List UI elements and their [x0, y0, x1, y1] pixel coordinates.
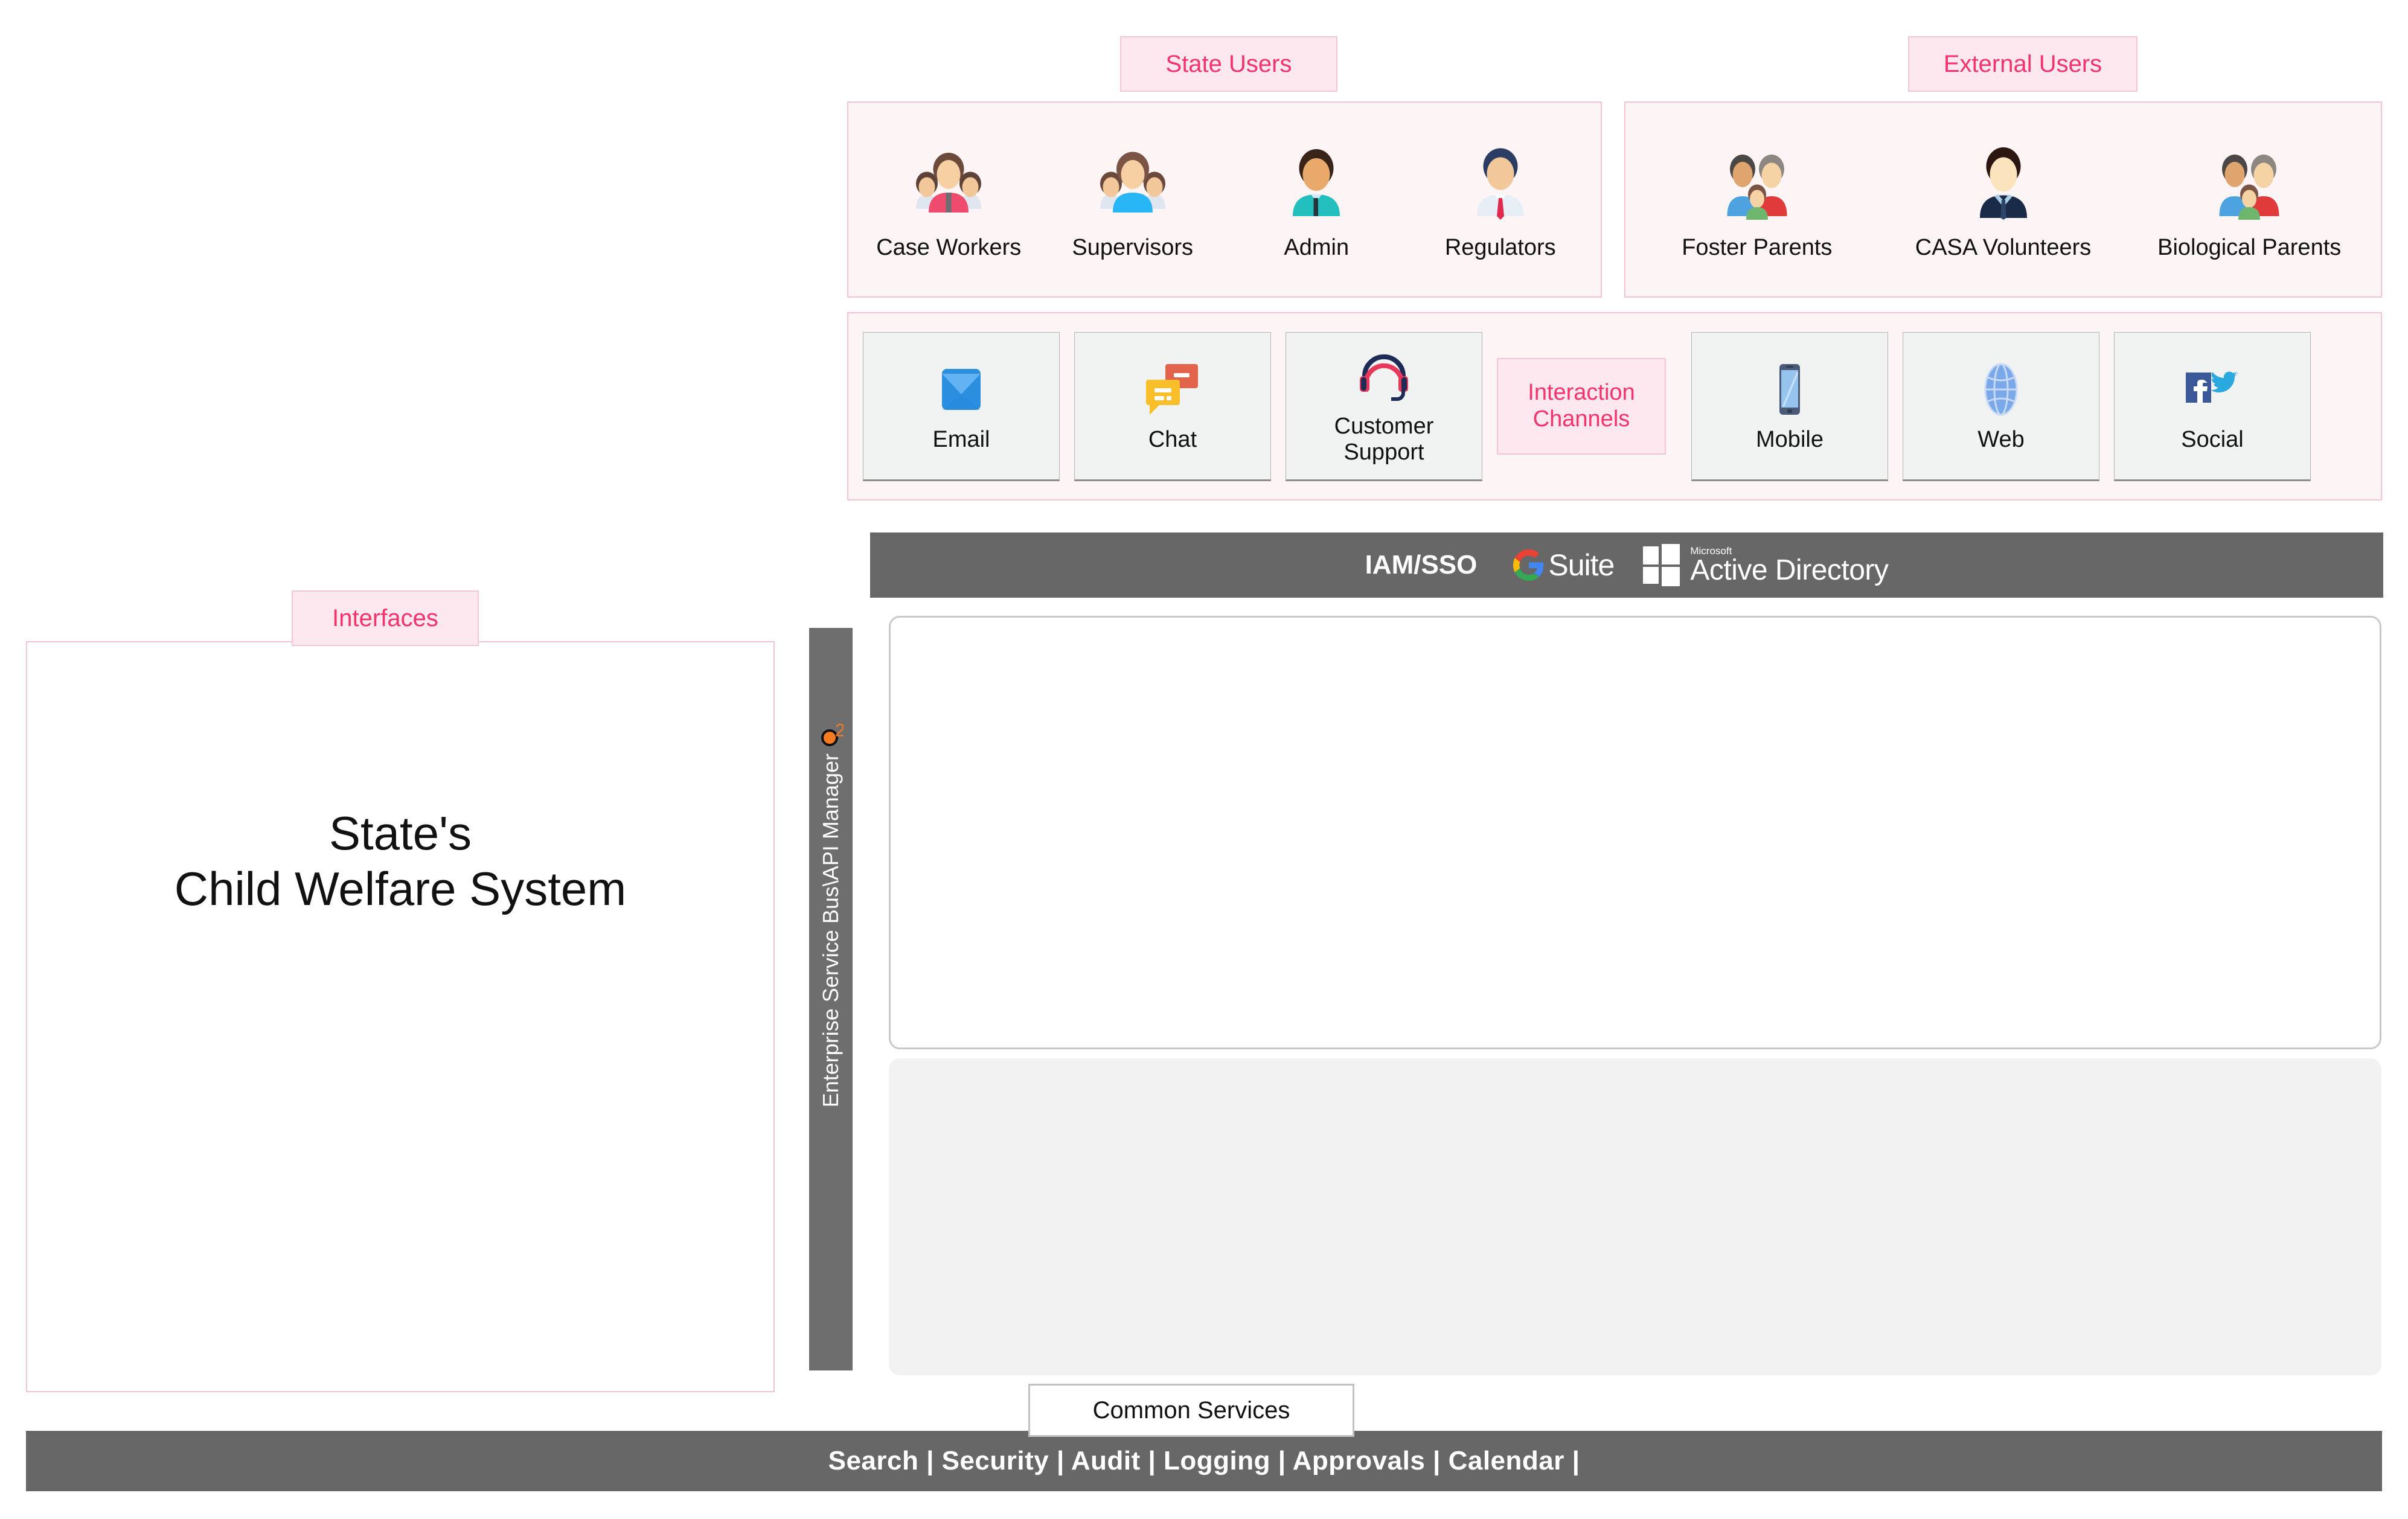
channel-label: Social: [2181, 427, 2244, 453]
wso2-logo-icon: WS 2: [818, 645, 844, 747]
user-item-case-workers[interactable]: Case Workers: [857, 138, 1041, 261]
channel-card-chat[interactable]: Chat: [1074, 332, 1271, 481]
interaction-channels-panel: Email Chat Customer Support Int: [847, 312, 2382, 500]
family-avatar-icon: [1712, 138, 1802, 229]
user-label: Regulators: [1445, 235, 1556, 261]
person-avatar-icon: [1958, 138, 2049, 229]
svg-text:2: 2: [835, 721, 844, 741]
state-title-line2: Child Welfare System: [27, 861, 773, 916]
user-label: CASA Volunteers: [1915, 235, 2092, 261]
social-media-icon: [2173, 359, 2252, 420]
channel-card-email[interactable]: Email: [863, 332, 1060, 481]
channel-card-customer-support[interactable]: Customer Support: [1286, 332, 1482, 481]
interaction-channels-line1: Interaction: [1528, 380, 1635, 406]
group-avatar-icon: [1087, 138, 1178, 229]
channel-label: Mobile: [1756, 427, 1824, 453]
interfaces-tab-text: Interfaces: [332, 604, 438, 632]
state-users-panel: Case Workers Supervisors Admin: [847, 101, 1602, 298]
enterprise-service-bus-bar: WS 2 Enterprise Service Bus\API Manager: [809, 628, 853, 1370]
group-avatar-icon: [903, 138, 994, 229]
external-users-panel: Foster Parents CASA Volunteers Biologica…: [1624, 101, 2382, 298]
state-child-welfare-system-box: State's Child Welfare System: [26, 641, 775, 1392]
common-services-bar: Search | Security | Audit | Logging | Ap…: [26, 1431, 2382, 1491]
state-title-line1: State's: [27, 805, 773, 861]
person-avatar-icon: [1455, 138, 1546, 229]
user-item-foster-parents[interactable]: Foster Parents: [1634, 138, 1880, 261]
iam-sso-bar: IAM/SSO Suite Microsoft Active Directory: [870, 532, 2383, 598]
family-avatar-icon: [2204, 138, 2294, 229]
common-services-label: Common Services: [1093, 1397, 1290, 1424]
channel-label: Web: [1977, 427, 2024, 453]
channel-card-web[interactable]: Web: [1903, 332, 2099, 481]
gsuite-label: Suite: [1548, 548, 1614, 583]
user-label: Case Workers: [876, 235, 1021, 261]
external-users-tab-label: External Users: [1908, 36, 2137, 92]
iam-sso-title: IAM/SSO: [1365, 550, 1478, 580]
user-item-biological-parents[interactable]: Biological Parents: [2126, 138, 2372, 261]
mobile-phone-icon: [1760, 359, 1820, 420]
headset-icon: [1354, 346, 1414, 406]
state-users-tab-label: State Users: [1120, 36, 1337, 92]
channel-label-line1: Customer: [1334, 414, 1434, 439]
interaction-channels-label: Interaction Channels: [1497, 358, 1666, 455]
channel-card-mobile[interactable]: Mobile: [1691, 332, 1888, 481]
user-label: Foster Parents: [1682, 235, 1832, 261]
user-item-admin[interactable]: Admin: [1225, 138, 1409, 261]
interaction-channels-line2: Channels: [1528, 406, 1635, 433]
person-avatar-icon: [1271, 138, 1362, 229]
active-directory-logo: Microsoft Active Directory: [1642, 544, 1888, 586]
user-label: Admin: [1284, 235, 1349, 261]
channel-label: Email: [932, 427, 990, 453]
gsuite-logo: Suite: [1513, 548, 1614, 583]
email-icon: [931, 359, 991, 420]
user-label: Supervisors: [1072, 235, 1193, 261]
user-item-casa-volunteers[interactable]: CASA Volunteers: [1880, 138, 2127, 261]
wso2-logo: WS 2: [818, 645, 844, 747]
interfaces-tab-label: Interfaces: [292, 590, 479, 646]
common-services-box: Common Services: [1028, 1384, 1354, 1437]
chat-bubbles-icon: [1142, 359, 1203, 420]
low-code-configurator-card: [889, 1058, 2381, 1375]
state-users-tab-text: State Users: [1166, 50, 1292, 78]
state-system-title: State's Child Welfare System: [27, 805, 773, 916]
esb-label: Enterprise Service Bus\API Manager: [818, 753, 844, 1107]
channel-label-line2: Support: [1343, 440, 1424, 465]
user-label: Biological Parents: [2157, 235, 2341, 261]
channel-label: Chat: [1148, 427, 1197, 453]
user-item-regulators[interactable]: Regulators: [1409, 138, 1593, 261]
globe-icon: [1971, 359, 2031, 420]
common-services-bar-label: Search | Security | Audit | Logging | Ap…: [828, 1446, 1580, 1476]
channel-label: Customer Support: [1334, 414, 1434, 465]
windows-icon: [1642, 544, 1682, 586]
google-g-icon: [1513, 549, 1545, 581]
cardinality-platform-card: [889, 616, 2381, 1049]
external-users-tab-text: External Users: [1944, 50, 2102, 78]
active-directory-label: Active Directory: [1690, 556, 1888, 585]
channel-card-social[interactable]: Social: [2114, 332, 2311, 481]
user-item-supervisors[interactable]: Supervisors: [1041, 138, 1225, 261]
